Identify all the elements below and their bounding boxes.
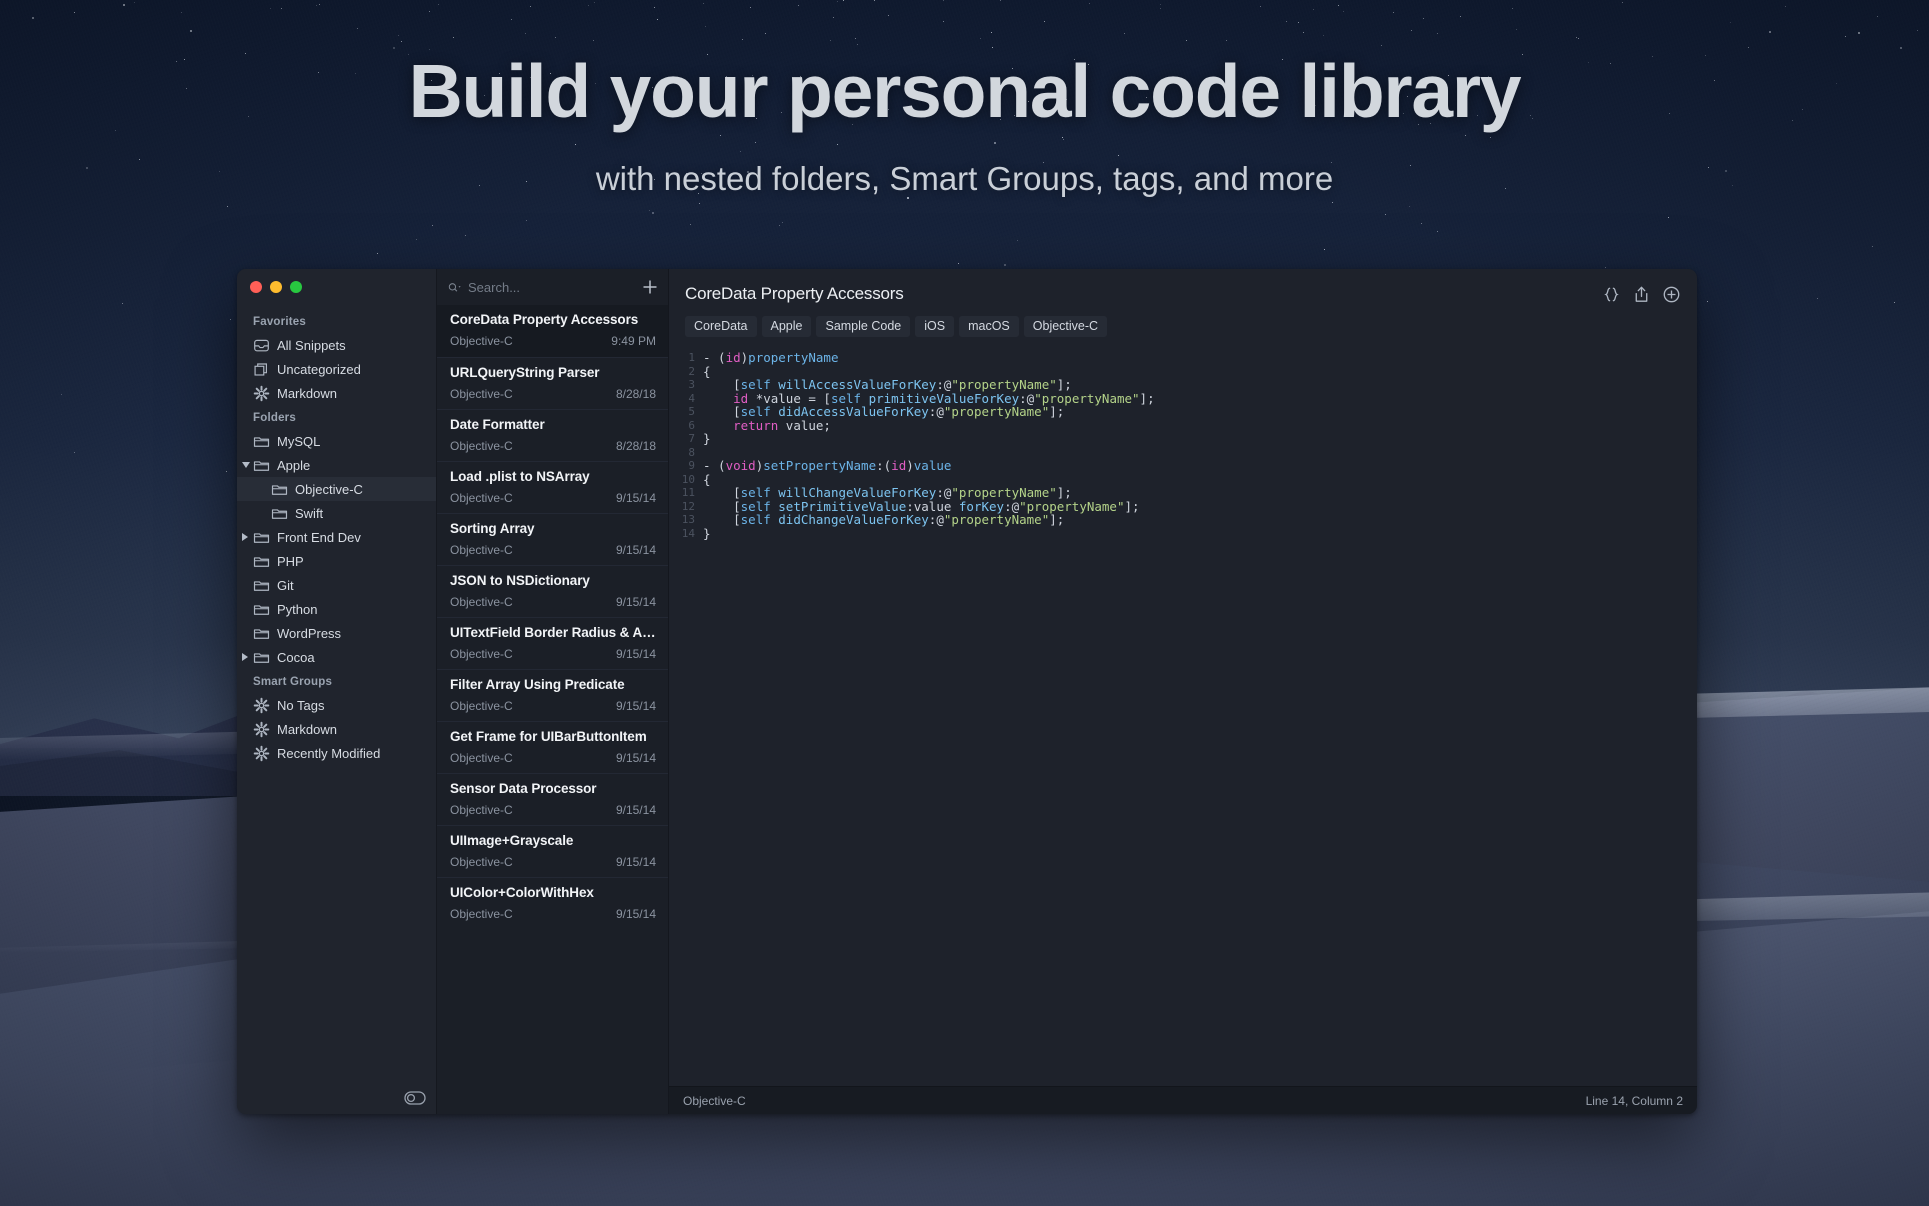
sidebar-item-label: Recently Modified (277, 746, 380, 761)
close-button[interactable] (250, 281, 262, 293)
code-token: "propertyName" (944, 404, 1049, 419)
snippet-date: 9/15/14 (616, 699, 656, 713)
promo-subheadline: with nested folders, Smart Groups, tags,… (0, 160, 1929, 198)
code-token: } (703, 431, 711, 446)
folder-icon (253, 529, 270, 546)
snippet-date: 9/15/14 (616, 491, 656, 505)
snippet-list-item[interactable]: Load .plist to NSArrayObjective-C9/15/14 (437, 461, 668, 513)
sidebar: FavoritesAll SnippetsUncategorizedMarkdo… (237, 269, 437, 1114)
snippet-date: 9/15/14 (616, 543, 656, 557)
line-number: 2 (669, 365, 703, 379)
line-number: 4 (669, 392, 703, 406)
snippet-language: Objective-C (450, 334, 513, 348)
gear-icon (253, 385, 270, 402)
snippet-date: 8/28/18 (616, 387, 656, 401)
code-view[interactable]: 1- (id)propertyName2{3 [self willAccessV… (669, 351, 1697, 1086)
tag-pill[interactable]: iOS (915, 316, 954, 337)
sidebar-item-label: Cocoa (277, 650, 315, 665)
snippet-meta: Objective-C9/15/14 (450, 647, 656, 661)
snippet-date: 9/15/14 (616, 907, 656, 921)
code-token: value (914, 458, 952, 473)
sidebar-scroll-area[interactable]: FavoritesAll SnippetsUncategorizedMarkdo… (237, 305, 436, 1082)
snippet-list-item[interactable]: UIImage+GrayscaleObjective-C9/15/14 (437, 825, 668, 877)
code-line: 7} (669, 432, 1697, 446)
snippet-date: 9/15/14 (616, 595, 656, 609)
gear-icon (253, 721, 270, 738)
snippet-date: 9/15/14 (616, 751, 656, 765)
sidebar-item-label: All Snippets (277, 338, 346, 353)
snippet-list-item[interactable]: Date FormatterObjective-C8/28/18 (437, 409, 668, 461)
sidebar-item-cocoa[interactable]: Cocoa (237, 645, 436, 669)
tag-pill[interactable]: Objective-C (1024, 316, 1107, 337)
folder-icon (271, 505, 288, 522)
snippet-list-item[interactable]: Filter Array Using PredicateObjective-C9… (437, 669, 668, 721)
sidebar-item-front-end-dev[interactable]: Front End Dev (237, 525, 436, 549)
code-token: ]; (1140, 391, 1155, 406)
snippet-meta: Objective-C9/15/14 (450, 595, 656, 609)
minimize-button[interactable] (270, 281, 282, 293)
sidebar-item-label: Markdown (277, 386, 337, 401)
tag-list[interactable]: CoreDataAppleSample CodeiOSmacOSObjectiv… (685, 316, 1681, 337)
code-line: 11 [self willChangeValueForKey:@"propert… (669, 486, 1697, 500)
snippet-language: Objective-C (450, 699, 513, 713)
code-token: ]; (1124, 499, 1139, 514)
code-token: value; (778, 418, 831, 433)
sidebar-item-label: Markdown (277, 722, 337, 737)
sidebar-item-no-tags[interactable]: No Tags (237, 693, 436, 717)
sidebar-item-php[interactable]: PHP (237, 549, 436, 573)
snippet-language: Objective-C (450, 491, 513, 505)
snippet-title: CoreData Property Accessors (450, 312, 656, 327)
zoom-button[interactable] (290, 281, 302, 293)
sidebar-item-uncategorized[interactable]: Uncategorized (237, 357, 436, 381)
code-line: 9- (void)setPropertyName:(id)value (669, 459, 1697, 473)
code-text[interactable]: - (id)propertyName (703, 351, 838, 365)
snippet-rows[interactable]: CoreData Property AccessorsObjective-C9:… (437, 305, 668, 1114)
folder-icon (253, 577, 270, 594)
folder-icon (253, 433, 270, 450)
line-number: 8 (669, 446, 703, 460)
line-number: 1 (669, 351, 703, 365)
snippet-title: UIImage+Grayscale (450, 833, 656, 848)
sidebar-item-label: Objective-C (295, 482, 363, 497)
code-text[interactable]: { (703, 473, 711, 487)
code-text[interactable]: [self didChangeValueForKey:@"propertyNam… (703, 513, 1064, 527)
snippet-language: Objective-C (450, 595, 513, 609)
snippet-title[interactable]: CoreData Property Accessors (685, 283, 1602, 304)
code-token: void (726, 458, 756, 473)
promo-headline: Build your personal code library (0, 48, 1929, 134)
sidebar-item-recently-modified[interactable]: Recently Modified (237, 741, 436, 765)
code-line: 6 return value; (669, 419, 1697, 433)
code-token: } (703, 526, 711, 541)
code-token: id (726, 351, 741, 365)
snippet-title: Load .plist to NSArray (450, 469, 656, 484)
snippet-date: 9/15/14 (616, 647, 656, 661)
snippet-language: Objective-C (450, 543, 513, 557)
snippet-language: Objective-C (450, 855, 513, 869)
editor-actions (1602, 283, 1681, 304)
snippet-language: Objective-C (450, 647, 513, 661)
disclosure-triangle-closed-icon[interactable] (242, 533, 248, 541)
code-token: :@ (929, 404, 944, 419)
editor-pane: CoreData Property Accessors (669, 269, 1697, 1114)
code-token: propertyName (748, 351, 838, 365)
snippet-title: JSON to NSDictionary (450, 573, 656, 588)
snippet-language: Objective-C (450, 803, 513, 817)
code-text[interactable]: [self setPrimitiveValue:value forKey:@"p… (703, 500, 1140, 514)
snippet-list-pane: Search... CoreData Property AccessorsObj… (437, 269, 669, 1114)
snippet-language: Objective-C (450, 387, 513, 401)
code-text[interactable]: id *value = [self primitiveValueForKey:@… (703, 392, 1155, 406)
sidebar-item-all-snippets[interactable]: All Snippets (237, 333, 436, 357)
code-token: didChangeValueForKey (778, 512, 929, 527)
line-number: 5 (669, 405, 703, 419)
snippet-date: 9/15/14 (616, 855, 656, 869)
sidebar-item-mysql[interactable]: MySQL (237, 429, 436, 453)
code-token: ]; (1049, 512, 1064, 527)
snippet-date: 9/15/14 (616, 803, 656, 817)
snippet-list-toolbar: Search... (437, 269, 668, 305)
folder-icon (253, 601, 270, 618)
code-line: 13 [self didChangeValueForKey:@"property… (669, 513, 1697, 527)
sidebar-item-markdown[interactable]: Markdown (237, 381, 436, 405)
editor-titlebar: CoreData Property Accessors (685, 283, 1681, 304)
sidebar-item-git[interactable]: Git (237, 573, 436, 597)
snippet-title: UIColor+ColorWithHex (450, 885, 656, 900)
code-line: 2{ (669, 365, 1697, 379)
sidebar-item-label: No Tags (277, 698, 324, 713)
sidebar-item-objective-c[interactable]: Objective-C (237, 477, 436, 501)
folder-icon (253, 553, 270, 570)
code-token: ]; (1049, 404, 1064, 419)
code-line: 10{ (669, 473, 1697, 487)
snippet-list-item[interactable]: CoreData Property AccessorsObjective-C9:… (437, 305, 668, 357)
code-text[interactable]: - (void)setPropertyName:(id)value (703, 459, 951, 473)
code-token: :@ (929, 512, 944, 527)
code-line: 12 [self setPrimitiveValue:value forKey:… (669, 500, 1697, 514)
code-line: 1- (id)propertyName (669, 351, 1697, 365)
code-line: 3 [self willAccessValueForKey:@"property… (669, 378, 1697, 392)
code-token: setPropertyName (763, 458, 876, 473)
snippet-list-item[interactable]: URLQueryString ParserObjective-C8/28/18 (437, 357, 668, 409)
sidebar-item-markdown[interactable]: Markdown (237, 717, 436, 741)
sidebar-item-python[interactable]: Python (237, 597, 436, 621)
snippet-meta: Objective-C9/15/14 (450, 751, 656, 765)
tag-pill[interactable]: Sample Code (816, 316, 910, 337)
sidebar-section-header: Folders (237, 405, 436, 429)
status-cursor-position: Line 14, Column 2 (1586, 1094, 1683, 1108)
line-number: 10 (669, 473, 703, 487)
code-text[interactable]: [self didAccessValueForKey:@"propertyNam… (703, 405, 1064, 419)
gear-icon (253, 697, 270, 714)
sidebar-item-label: WordPress (277, 626, 341, 641)
share-icon[interactable] (1632, 285, 1651, 304)
code-token: "propertyName" (944, 512, 1049, 527)
tag-pill[interactable]: macOS (959, 316, 1019, 337)
line-number: 12 (669, 500, 703, 514)
line-number: 7 (669, 432, 703, 446)
promo-headline-block: Build your personal code library with ne… (0, 48, 1929, 198)
search-icon-with-chevron[interactable] (448, 280, 463, 295)
snippet-meta: Objective-C9/15/14 (450, 855, 656, 869)
toggle-switch-icon[interactable] (404, 1091, 426, 1105)
snippet-title: Sensor Data Processor (450, 781, 656, 796)
code-line: 5 [self didAccessValueForKey:@"propertyN… (669, 405, 1697, 419)
folder-icon (253, 625, 270, 642)
code-token: :( (876, 458, 891, 473)
line-number: 3 (669, 378, 703, 392)
code-line: 8 (669, 446, 1697, 460)
tag-pill[interactable]: CoreData (685, 316, 757, 337)
snippet-list-item[interactable]: Get Frame for UIBarButtonItemObjective-C… (437, 721, 668, 773)
snippet-title: Sorting Array (450, 521, 656, 536)
code-token: id (891, 458, 906, 473)
snippet-list-item[interactable]: Sorting ArrayObjective-C9/15/14 (437, 513, 668, 565)
sidebar-item-label: Uncategorized (277, 362, 361, 377)
braces-icon[interactable] (1602, 285, 1621, 304)
snippet-title: UITextField Border Radius & Attribu… (450, 625, 656, 640)
code-text[interactable]: [self willChangeValueForKey:@"propertyNa… (703, 486, 1072, 500)
new-snippet-plus-icon[interactable] (641, 278, 659, 296)
snippet-meta: Objective-C8/28/18 (450, 387, 656, 401)
sidebar-item-label: Apple (277, 458, 310, 473)
editor-status-bar: Objective-C Line 14, Column 2 (669, 1086, 1697, 1114)
folder-icon (253, 649, 270, 666)
snippet-list-item[interactable]: UIColor+ColorWithHexObjective-C9/15/14 (437, 877, 668, 929)
sidebar-item-label: Python (277, 602, 317, 617)
code-token: return (733, 418, 778, 433)
search-field[interactable]: Search... (448, 280, 635, 295)
code-line: 14} (669, 527, 1697, 541)
snippet-list-item[interactable]: UITextField Border Radius & Attribu…Obje… (437, 617, 668, 669)
line-number: 13 (669, 513, 703, 527)
code-text[interactable]: return value; (703, 419, 831, 433)
sidebar-section-header: Favorites (237, 309, 436, 333)
disclosure-triangle-open-icon[interactable] (242, 462, 250, 468)
folder-icon (271, 481, 288, 498)
editor-header: CoreData Property Accessors (669, 269, 1697, 337)
code-text[interactable]: } (703, 432, 711, 446)
line-number: 11 (669, 486, 703, 500)
sidebar-item-label: Git (277, 578, 294, 593)
line-number: 14 (669, 527, 703, 541)
snippet-meta: Objective-C9/15/14 (450, 803, 656, 817)
snippet-title: URLQueryString Parser (450, 365, 656, 380)
gear-icon (253, 745, 270, 762)
folder-icon (253, 457, 270, 474)
snippet-meta: Objective-C9/15/14 (450, 543, 656, 557)
snippet-language: Objective-C (450, 751, 513, 765)
snippet-meta: Objective-C9:49 PM (450, 334, 656, 348)
sidebar-item-swift[interactable]: Swift (237, 501, 436, 525)
snippet-title: Date Formatter (450, 417, 656, 432)
code-text[interactable]: } (703, 527, 711, 541)
window-traffic-lights (237, 269, 436, 305)
search-input-placeholder[interactable]: Search... (468, 280, 520, 295)
app-window: FavoritesAll SnippetsUncategorizedMarkdo… (237, 269, 1697, 1114)
add-circle-icon[interactable] (1662, 285, 1681, 304)
snippet-date: 9:49 PM (611, 334, 656, 348)
sidebar-section-header: Smart Groups (237, 669, 436, 693)
inbox-icon (253, 337, 270, 354)
sidebar-item-apple[interactable]: Apple (237, 453, 436, 477)
line-number: 6 (669, 419, 703, 433)
snippet-language: Objective-C (450, 439, 513, 453)
sidebar-item-label: MySQL (277, 434, 320, 449)
code-text[interactable]: { (703, 365, 711, 379)
snippet-language: Objective-C (450, 907, 513, 921)
tag-pill[interactable]: Apple (762, 316, 812, 337)
line-number: 9 (669, 459, 703, 473)
status-language[interactable]: Objective-C (683, 1094, 746, 1108)
code-token: self (741, 512, 771, 527)
snippet-meta: Objective-C8/28/18 (450, 439, 656, 453)
sidebar-item-label: Swift (295, 506, 323, 521)
stacked-pages-icon (253, 361, 270, 378)
snippet-meta: Objective-C9/15/14 (450, 907, 656, 921)
sidebar-footer (237, 1082, 436, 1114)
snippet-date: 8/28/18 (616, 439, 656, 453)
disclosure-triangle-closed-icon[interactable] (242, 653, 248, 661)
snippet-title: Get Frame for UIBarButtonItem (450, 729, 656, 744)
snippet-meta: Objective-C9/15/14 (450, 491, 656, 505)
code-line: 4 id *value = [self primitiveValueForKey… (669, 392, 1697, 406)
sidebar-item-label: PHP (277, 554, 304, 569)
snippet-meta: Objective-C9/15/14 (450, 699, 656, 713)
code-text[interactable]: [self willAccessValueForKey:@"propertyNa… (703, 378, 1072, 392)
code-token: ) (906, 458, 914, 473)
sidebar-item-label: Front End Dev (277, 530, 361, 545)
snippet-list-item[interactable]: JSON to NSDictionaryObjective-C9/15/14 (437, 565, 668, 617)
snippet-title: Filter Array Using Predicate (450, 677, 656, 692)
snippet-list-item[interactable]: Sensor Data ProcessorObjective-C9/15/14 (437, 773, 668, 825)
sidebar-item-wordpress[interactable]: WordPress (237, 621, 436, 645)
